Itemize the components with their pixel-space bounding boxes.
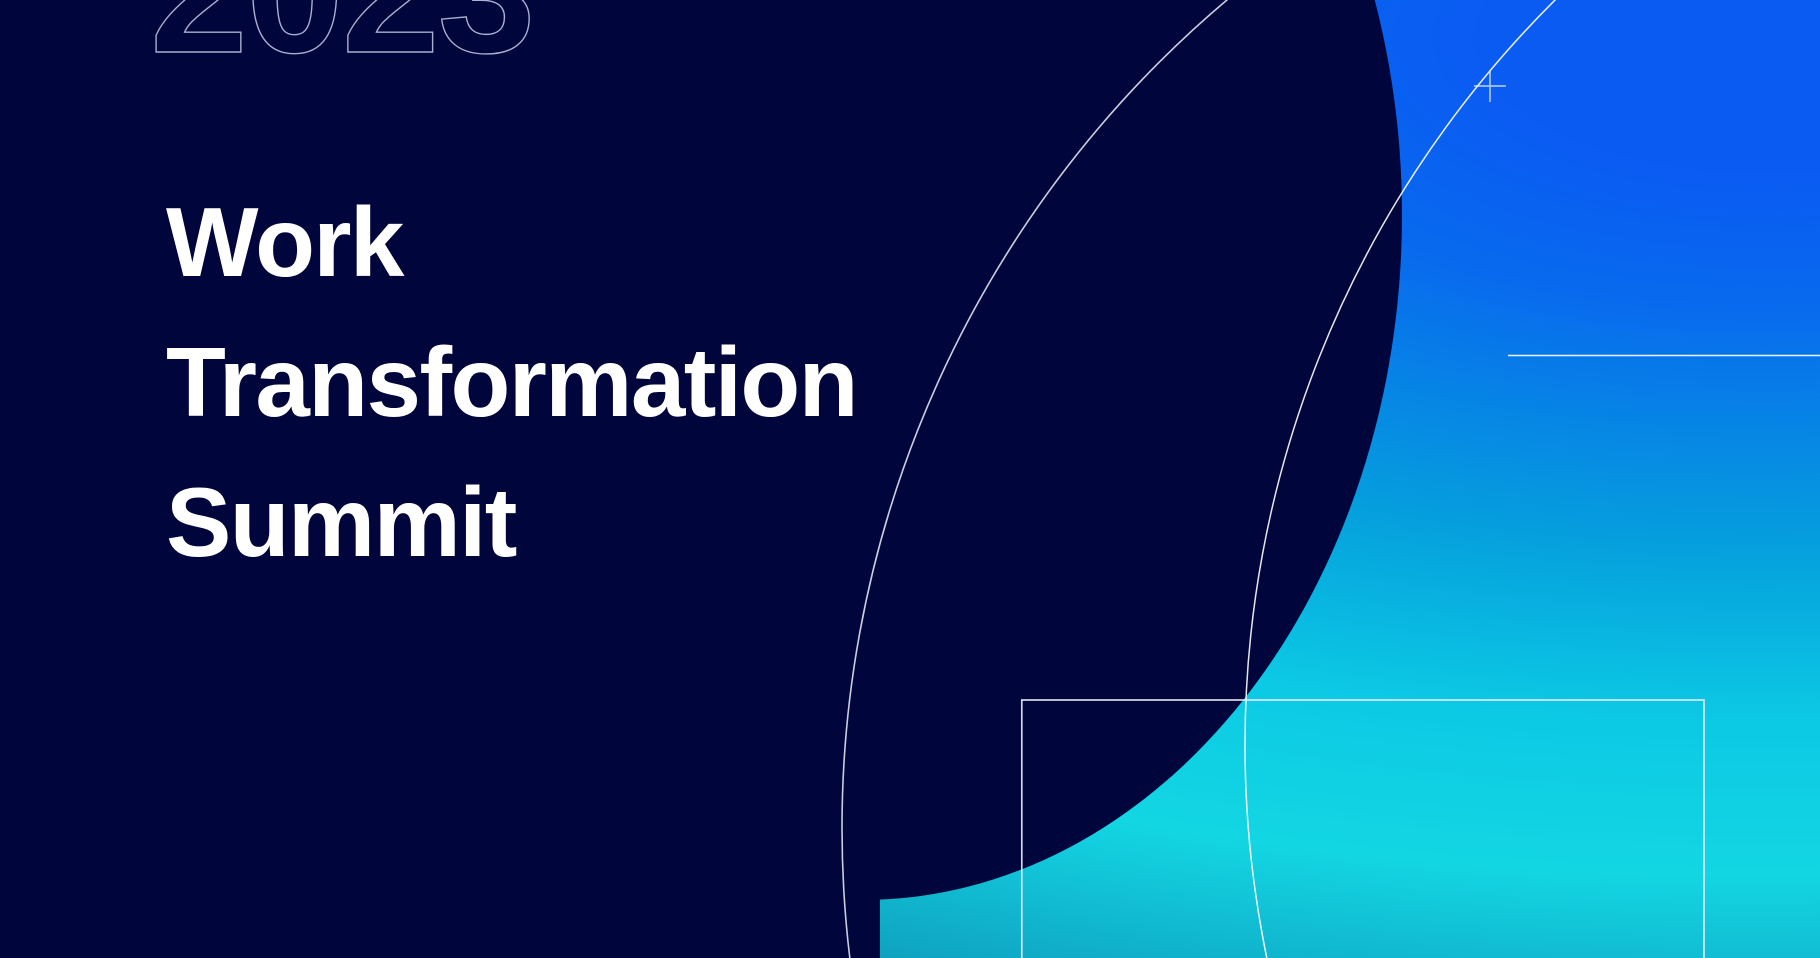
title-line-1: Work [166, 172, 1166, 312]
page-title: Work Transformation Summit [166, 172, 1166, 592]
title-line-2: Transformation [166, 312, 1166, 452]
title-line-3: Summit [166, 452, 1166, 592]
year-badge: 2023 [150, 0, 534, 80]
slide-canvas: 2023 Work Transformation Summit [0, 0, 1820, 958]
